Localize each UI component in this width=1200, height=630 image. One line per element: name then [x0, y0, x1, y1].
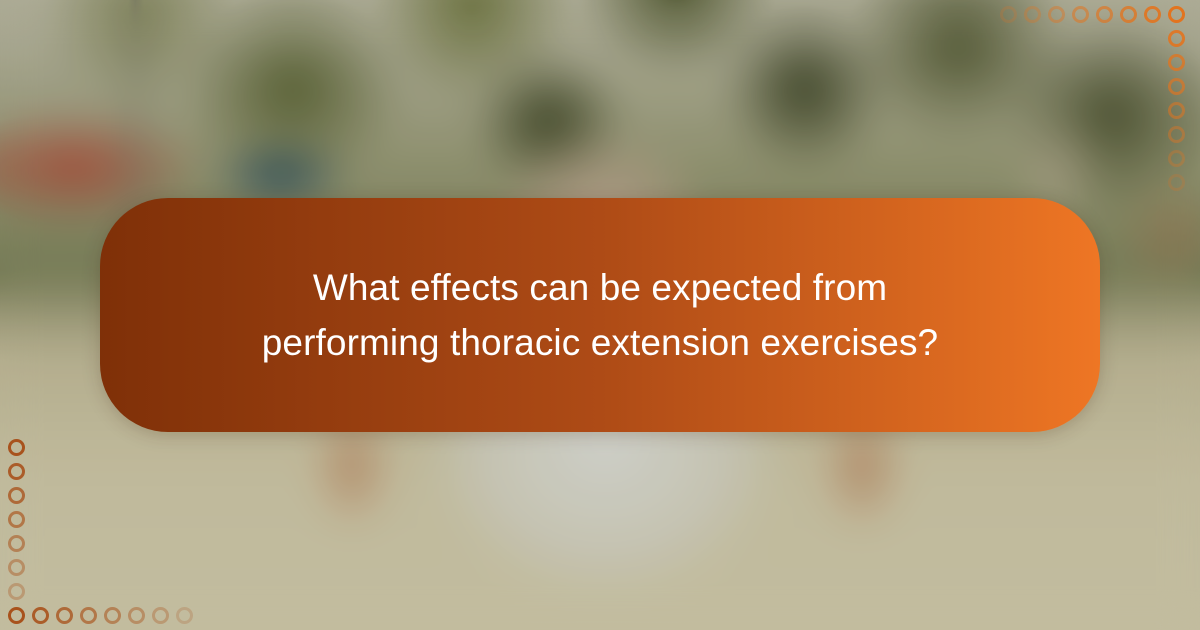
social-card-canvas: What effects can be expected from perfor… [0, 0, 1200, 630]
question-text: What effects can be expected from perfor… [220, 260, 980, 370]
question-card: What effects can be expected from perfor… [100, 198, 1100, 432]
